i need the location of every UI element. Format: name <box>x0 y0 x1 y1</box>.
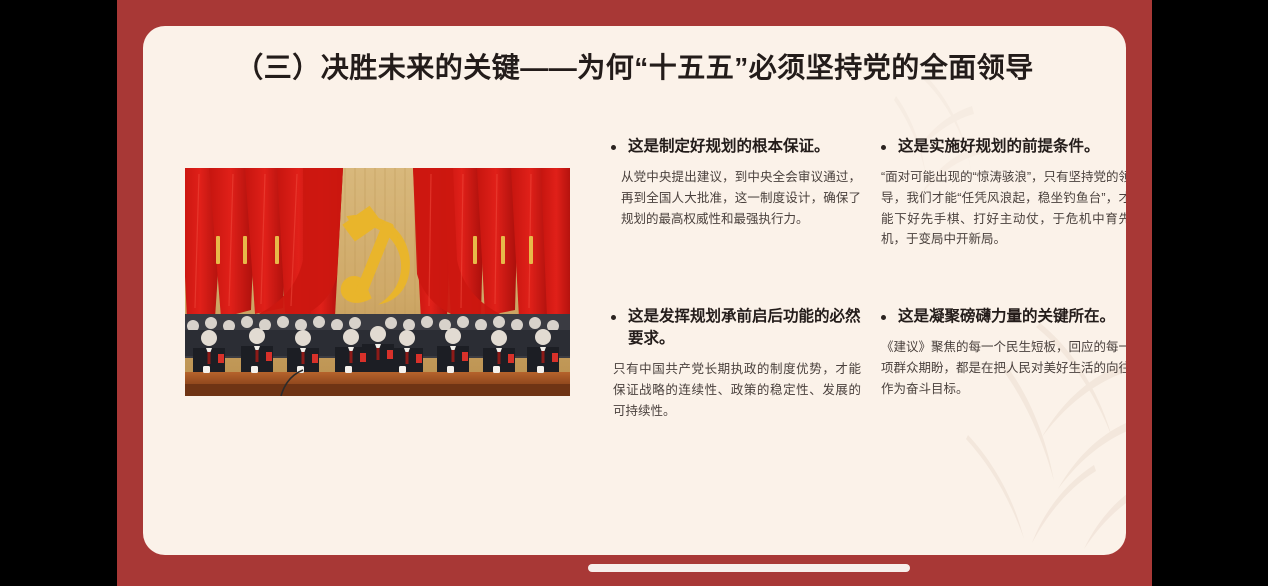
point-body-4: 《建议》聚焦的每一个民生短板，回应的每一项群众期盼，都是在把人民对美好生活的向往… <box>881 337 1126 399</box>
bullet-icon <box>881 145 886 150</box>
point-block-3: 这是发挥规划承前启后功能的必然要求。 只有中国共产党长期执政的制度优势，才能保证… <box>611 306 861 421</box>
bullet-icon <box>881 315 886 320</box>
slide-card: （三）决胜未来的关键——为何“十五五”必须坚持党的全面领导 <box>143 26 1126 555</box>
point-heading-row-1: 这是制定好规划的根本保证。 <box>611 136 861 158</box>
point-block-1: 这是制定好规划的根本保证。 从党中央提出建议，到中央全会审议通过，再到全国人大批… <box>611 136 861 229</box>
home-indicator[interactable] <box>588 564 910 572</box>
page-title: （三）决胜未来的关键——为何“十五五”必须坚持党的全面领导 <box>143 46 1126 86</box>
point-body-3: 只有中国共产党长期执政的制度优势，才能保证战略的连续性、政策的稳定性、发展的可持… <box>611 359 861 421</box>
point-heading-row-2: 这是实施好规划的前提条件。 <box>881 136 1126 158</box>
point-block-2: 这是实施好规划的前提条件。 “面对可能出现的“惊涛骇浪”，只有坚持党的领导，我们… <box>881 136 1126 250</box>
point-heading-row-4: 这是凝聚磅礴力量的关键所在。 <box>881 306 1126 328</box>
point-heading-1: 这是制定好规划的根本保证。 <box>628 136 861 158</box>
screen-stage: （三）决胜未来的关键——为何“十五五”必须坚持党的全面领导 <box>0 0 1268 586</box>
point-body-1: 从党中央提出建议，到中央全会审议通过，再到全国人大批准，这一制度设计，确保了规划… <box>611 167 861 229</box>
point-heading-row-3: 这是发挥规划承前启后功能的必然要求。 <box>611 306 861 350</box>
party-congress-hall-photo <box>185 168 570 396</box>
point-heading-4: 这是凝聚磅礴力量的关键所在。 <box>898 306 1126 328</box>
point-block-4: 这是凝聚磅礴力量的关键所在。 《建议》聚焦的每一个民生短板，回应的每一项群众期盼… <box>881 306 1126 399</box>
point-body-2: “面对可能出现的“惊涛骇浪”，只有坚持党的领导，我们才能“任凭风浪起，稳坐钓鱼台… <box>881 167 1126 250</box>
bullet-icon <box>611 315 616 320</box>
point-heading-2: 这是实施好规划的前提条件。 <box>898 136 1126 158</box>
slide-frame: （三）决胜未来的关键——为何“十五五”必须坚持党的全面领导 <box>117 0 1152 586</box>
point-heading-3: 这是发挥规划承前启后功能的必然要求。 <box>628 306 861 350</box>
bullet-icon <box>611 145 616 150</box>
